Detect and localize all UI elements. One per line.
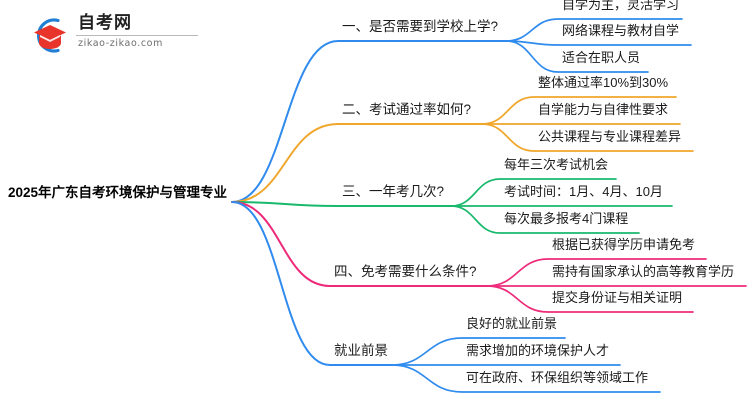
logo-name-cn: 自考网 — [76, 13, 206, 33]
branch-node-3: 三、一年考几次? — [342, 185, 444, 199]
leaf-node-5-2: 需求增加的环境保护人才 — [466, 344, 609, 357]
logo-name-en: zikao-zikao.com — [76, 38, 206, 50]
leaf-node-2-1: 整体通过率10%到30% — [538, 76, 668, 89]
branch-node-5: 就业前景 — [334, 344, 388, 358]
connector-line — [232, 202, 392, 365]
leaf-node-3-2: 考试时间：1月、4月、10月 — [504, 185, 663, 198]
leaf-node-4-1: 根据已获得学历申请免考 — [552, 238, 695, 251]
leaf-node-3-1: 每年三次考试机会 — [504, 158, 608, 171]
branch-node-4: 四、免考需要什么条件? — [334, 265, 477, 279]
graduation-cap-icon — [28, 14, 72, 56]
leaf-node-3-3: 每次最多报考4门课程 — [504, 212, 628, 225]
leaf-node-2-3: 公共课程与专业课程差异 — [538, 130, 681, 143]
mindmap-canvas: 自考网 zikao-zikao.com 2025年广东自考环境保护与管理专业一、… — [0, 0, 750, 410]
leaf-node-4-3: 提交身份证与相关证明 — [552, 291, 682, 304]
leaf-node-1-2: 网络课程与教材自学 — [562, 24, 679, 37]
leaf-node-4-2: 需持有国家承认的高等教育学历 — [552, 265, 734, 278]
leaf-node-5-3: 可在政府、环保组织等领域工作 — [466, 371, 648, 384]
leaf-node-2-2: 自学能力与自律性要求 — [538, 103, 668, 116]
connector-line — [232, 41, 506, 202]
connector-line — [506, 41, 691, 45]
branch-node-1: 一、是否需要到学校上学? — [342, 20, 498, 34]
site-logo[interactable]: 自考网 zikao-zikao.com — [28, 12, 208, 58]
connector-line — [232, 202, 451, 206]
leaf-node-1-1: 自学为主，灵活学习 — [562, 0, 679, 11]
logo-divider — [76, 35, 198, 36]
logo-text: 自考网 zikao-zikao.com — [76, 13, 206, 50]
leaf-node-1-3: 适合在职人员 — [562, 51, 640, 64]
leaf-node-5-1: 良好的就业前景 — [466, 317, 557, 330]
branch-node-2: 二、考试通过率如何? — [342, 103, 471, 117]
root-node-label: 2025年广东自考环境保护与管理专业 — [8, 186, 227, 200]
